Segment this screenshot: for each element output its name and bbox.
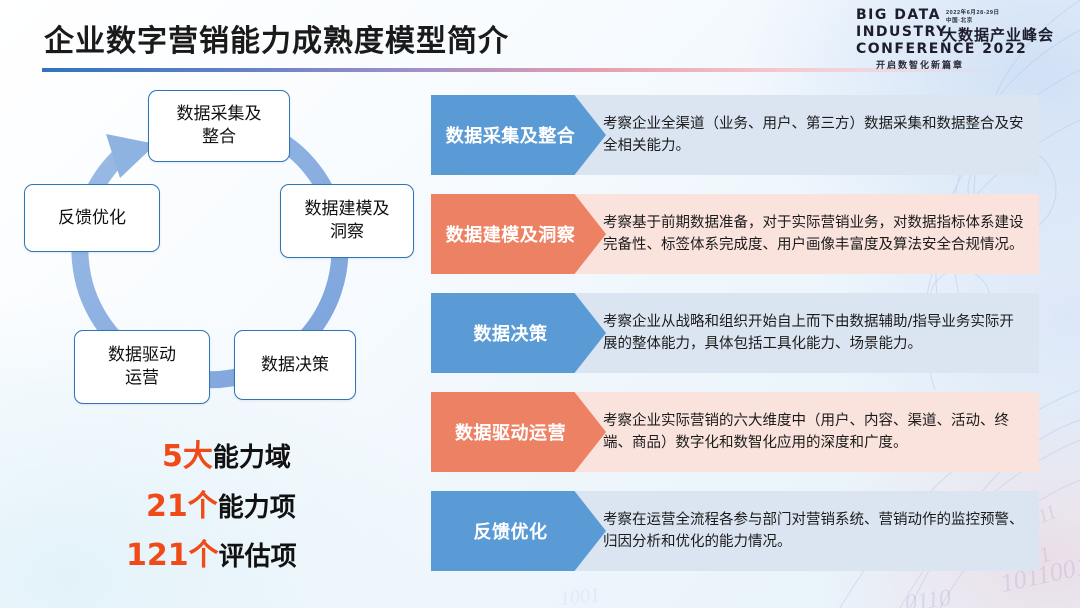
- row-chevron-label[interactable]: 数据决策: [431, 293, 606, 373]
- row-label-text: 反馈优化: [474, 518, 548, 544]
- capability-row: 数据驱动运营 考察企业实际营销的六大维度中（用户、内容、渠道、活动、终端、商品）…: [431, 392, 1039, 472]
- stat-text: 能力项: [218, 493, 296, 523]
- capability-row: 数据采集及整合 考察企业全渠道（业务、用户、第三方）数据采集和数据整合及安全相关…: [431, 95, 1039, 175]
- row-label-text: 数据决策: [474, 320, 548, 346]
- stat-number: 21: [146, 489, 188, 524]
- logo-line-industry: INDUSTRY: [856, 25, 948, 39]
- cycle-box-data-modeling[interactable]: 数据建模及洞察: [280, 184, 414, 258]
- stat-assessment-items: 121个评估项: [126, 531, 378, 581]
- stat-unit: 大: [183, 439, 213, 474]
- row-description: 考察基于前期数据准备，对于实际营销业务，对数据指标体系建设完备性、标签体系完成度…: [603, 194, 1025, 274]
- cycle-box-label: 数据建模及洞察: [305, 198, 390, 244]
- row-chevron-label[interactable]: 数据建模及洞察: [431, 194, 606, 274]
- stat-number: 5: [162, 439, 183, 474]
- row-label-text: 数据采集及整合: [446, 122, 576, 148]
- cycle-box-data-collection[interactable]: 数据采集及整合: [148, 90, 290, 162]
- stat-unit: 个: [188, 489, 218, 524]
- capability-row: 数据决策 考察企业从战略和组织开始自上而下由数据辅助/指导业务实际开展的整体能力…: [431, 293, 1039, 373]
- stat-unit: 个: [189, 538, 219, 573]
- capability-rows-list: 数据采集及整合 考察企业全渠道（业务、用户、第三方）数据采集和数据整合及安全相关…: [431, 95, 1039, 590]
- cycle-box-label: 数据决策: [261, 354, 329, 377]
- cycle-box-data-driven-ops[interactable]: 数据驱动运营: [74, 330, 210, 404]
- capability-row: 数据建模及洞察 考察基于前期数据准备，对于实际营销业务，对数据指标体系建设完备性…: [431, 194, 1039, 274]
- logo-date-text: 2022年6月28-29日: [946, 9, 1000, 17]
- row-description: 考察企业从战略和组织开始自上而下由数据辅助/指导业务实际开展的整体能力，具体包括…: [603, 293, 1025, 373]
- row-label-text: 数据驱动运营: [455, 419, 566, 445]
- stat-capability-items: 21个能力项: [146, 482, 378, 532]
- page-title: 企业数字营销能力成熟度模型简介: [44, 16, 509, 60]
- capability-cycle-diagram: 数据采集及整合 数据建模及洞察 数据决策 数据驱动运营 反馈优化: [10, 82, 420, 422]
- row-label-text: 数据建模及洞察: [446, 221, 576, 247]
- statistics-block: 5大能力域 21个能力项 121个评估项: [118, 432, 378, 581]
- row-chevron-label[interactable]: 数据采集及整合: [431, 95, 606, 175]
- stat-number: 121: [126, 538, 189, 573]
- logo-date-place: 2022年6月28-29日 中国·北京: [946, 9, 1000, 26]
- logo-chinese-name: 大数据产业峰会: [942, 24, 1054, 45]
- cycle-box-feedback-optimization[interactable]: 反馈优化: [24, 184, 160, 252]
- stat-capability-domains: 5大能力域: [162, 432, 378, 482]
- capability-row: 反馈优化 考察在运营全流程各参与部门对营销系统、营销动作的监控预警、归因分析和优…: [431, 491, 1039, 571]
- conference-logo: BIG DATA INDUSTRY CONFERENCE 2022 大数据产业峰…: [854, 6, 1068, 66]
- cycle-box-data-decision[interactable]: 数据决策: [234, 330, 356, 400]
- row-description: 考察企业全渠道（业务、用户、第三方）数据采集和数据整合及安全相关能力。: [603, 95, 1025, 175]
- cycle-box-label: 数据驱动运营: [108, 344, 176, 390]
- row-description: 考察在运营全流程各参与部门对营销系统、营销动作的监控预警、归因分析和优化的能力情…: [603, 491, 1025, 571]
- logo-place-text: 中国·北京: [946, 17, 1000, 25]
- row-description: 考察企业实际营销的六大维度中（用户、内容、渠道、活动、终端、商品）数字化和数智化…: [603, 392, 1025, 472]
- stat-text: 能力域: [213, 443, 291, 473]
- cycle-box-label: 反馈优化: [58, 207, 126, 230]
- logo-tagline: 开启数智化新篇章: [876, 58, 964, 71]
- row-chevron-label[interactable]: 反馈优化: [431, 491, 606, 571]
- logo-line-big-data: BIG DATA: [856, 8, 941, 22]
- stat-text: 评估项: [219, 542, 297, 572]
- cycle-box-label: 数据采集及整合: [177, 103, 262, 149]
- slide-root: 1011001 101 111 0110 1001 企业数字营销能力成熟度模型简…: [0, 0, 1080, 608]
- row-chevron-label[interactable]: 数据驱动运营: [431, 392, 606, 472]
